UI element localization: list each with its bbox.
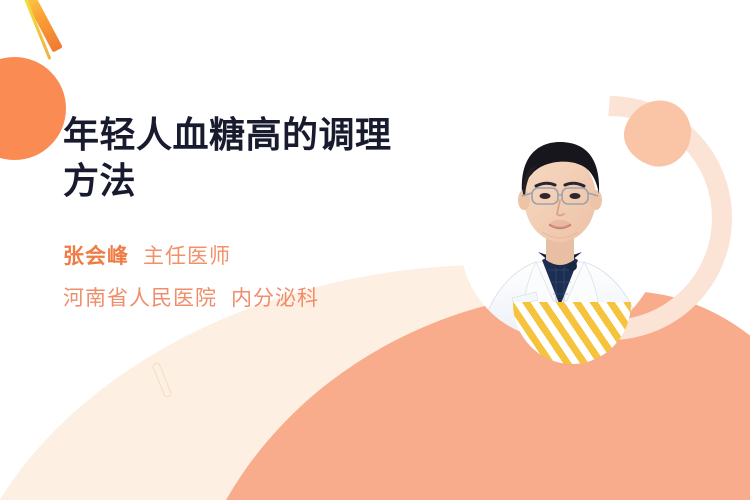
doctor-portrait xyxy=(460,120,660,360)
orange-streak-decoration xyxy=(20,0,63,52)
doctor-byline: 张会峰主任医师 xyxy=(63,246,231,267)
outline-streak-decoration xyxy=(152,362,173,398)
portrait-circle-clip xyxy=(460,120,660,360)
page-title: 年轻人血糖高的调理方法 xyxy=(63,112,423,204)
yellow-streak-decoration xyxy=(22,0,52,60)
department-name: 内分泌科 xyxy=(231,287,319,310)
hospital-name: 河南省人民医院 xyxy=(63,287,217,310)
doctor-name: 张会峰 xyxy=(63,245,129,268)
orange-circle-decoration xyxy=(0,57,66,160)
bottom-salmon-wave-back xyxy=(184,379,555,500)
doctor-affiliation: 河南省人民医院内分泌科 xyxy=(63,288,319,309)
portrait-illustration xyxy=(460,120,660,360)
doctor-job-title: 主任医师 xyxy=(143,245,231,268)
poster-canvas: 年轻人血糖高的调理方法 张会峰主任医师 河南省人民医院内分泌科 xyxy=(0,0,750,500)
